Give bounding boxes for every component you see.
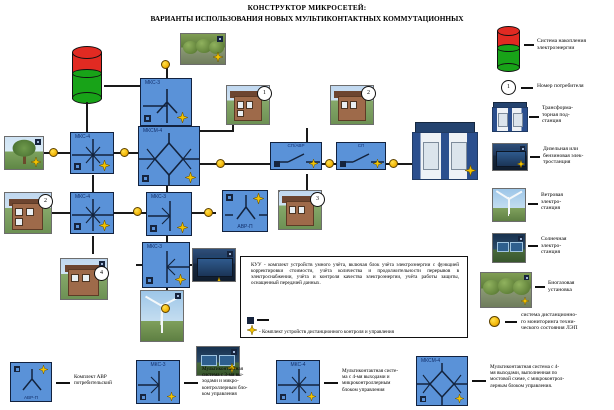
- node-mks4-left-upper[interactable]: МКС-4: [70, 132, 114, 174]
- kuu-description: КУУ - комплект устройств умного учёта, в…: [251, 262, 459, 286]
- remote-control-icon: [247, 325, 257, 335]
- remote-control-icon: [373, 159, 382, 168]
- energy-storage-unit: [72, 46, 102, 104]
- meter-icon: [247, 317, 254, 324]
- wind-turbine-photo: [140, 290, 184, 342]
- wire: [196, 130, 234, 132]
- monitoring-dot: [216, 159, 225, 168]
- monitoring-dot: [49, 148, 58, 157]
- meter-icon: [144, 115, 151, 122]
- transformer-substation: [412, 118, 478, 180]
- hidden: [278, 190, 280, 192]
- solar-tree-photo: [4, 136, 44, 170]
- leader-line: [521, 87, 533, 89]
- monitoring-dot: [389, 159, 398, 168]
- remote-control-icon: [214, 277, 224, 282]
- wire: [92, 236, 94, 254]
- legend-storage-icon: [497, 26, 520, 72]
- meter-icon: [226, 194, 233, 201]
- remote-control-icon: [39, 365, 48, 374]
- remote-control-icon: [99, 220, 110, 231]
- leader-line: [524, 44, 534, 46]
- meter-icon: [74, 163, 81, 170]
- legend-transformer-icon: [492, 100, 528, 132]
- leader-line: [472, 380, 486, 382]
- description-box: КУУ - комплект устройств умного учёта, в…: [240, 256, 468, 338]
- consumer-number-badge: 2: [38, 194, 53, 209]
- bottom-block-avr-p[interactable]: АВР-П: [10, 362, 52, 402]
- leader-line: [529, 116, 539, 118]
- remote-control-icon: [521, 297, 529, 305]
- bottom-caption-mks3: Мультиконтактная система с 3-мя вы- хода…: [202, 366, 274, 397]
- node-mksm4-center[interactable]: МКСМ-4: [138, 126, 200, 186]
- meter-icon: [140, 394, 146, 400]
- meter-icon: [74, 223, 81, 230]
- remote-control-icon: [175, 274, 186, 285]
- bottom-block-mks4[interactable]: МКС-4: [276, 360, 320, 404]
- remote-control-icon: [253, 193, 264, 204]
- consumer-number-badge: 2: [361, 86, 376, 101]
- remote-control-icon: [99, 160, 110, 171]
- remote-control-description: - Комплект устройств дистанционного конт…: [259, 329, 394, 335]
- legend-label-wind: Ветровая электро- станция: [541, 192, 613, 212]
- legend-label-transformer: Трансформа- торная под- станция: [542, 105, 614, 125]
- monitoring-dot: [161, 304, 170, 313]
- remote-control-icon: [177, 112, 188, 123]
- leader-line: [530, 156, 540, 158]
- node-mks4-left-lower[interactable]: МКС-4: [70, 192, 114, 234]
- legend-label-diesel: Дизельная или бензиновая элек- тростанци…: [543, 146, 614, 166]
- node-avr-p[interactable]: АВР-П: [222, 190, 268, 232]
- legend-solar-icon: [492, 233, 526, 263]
- bottom-caption-mksm4: Мультиконтактная система с 4- мя выходам…: [490, 364, 612, 389]
- wire: [104, 85, 142, 87]
- leader-line: [184, 382, 198, 384]
- monitoring-dot: [204, 208, 213, 217]
- legend-label-biogas: Биогазовая установка: [548, 280, 614, 293]
- node-label: АВР-П: [237, 224, 252, 230]
- monitoring-dot: [133, 207, 142, 216]
- consumer-number-badge: 3: [310, 192, 325, 207]
- node-mks3-top[interactable]: МКС-3: [140, 78, 192, 126]
- bottom-block-mks3[interactable]: МКС-3: [136, 360, 180, 404]
- node-mks3-mid[interactable]: МКС-3: [146, 192, 192, 236]
- meter-icon: [142, 175, 149, 182]
- legend-label-monitoring: система дистанционно- го мониторинга тех…: [521, 312, 613, 332]
- remote-control-icon: [185, 172, 196, 183]
- monitoring-dot: [161, 60, 170, 69]
- remote-control-icon: [31, 157, 41, 167]
- legend-monitoring-icon: [489, 316, 500, 327]
- meter-icon: [274, 161, 280, 167]
- leader-line: [505, 321, 517, 323]
- switch-block-sp[interactable]: СП: [336, 142, 386, 170]
- meter-icon: [420, 396, 426, 402]
- remote-control-icon: [167, 392, 176, 401]
- switch-block-sp-avr[interactable]: СП/АВР: [270, 142, 322, 170]
- remote-control-icon: [465, 165, 476, 176]
- legend-consumer-number-icon: 1: [501, 80, 516, 95]
- remote-control-icon: [177, 222, 188, 233]
- remote-control-icon: [309, 159, 318, 168]
- meter-icon: [280, 394, 286, 400]
- leader-line: [257, 319, 269, 321]
- legend-label-solar: Солнечная электро- станция: [541, 236, 613, 256]
- page-subtitle: ВАРИАНТЫ ИСПОЛЬЗОВАНИЯ НОВЫХ МУЛЬТИКОНТА…: [0, 14, 614, 23]
- monitoring-dot: [120, 148, 129, 157]
- bottom-block-mksm4[interactable]: МКСМ-4: [416, 356, 468, 406]
- node-mks3-low[interactable]: МКС-3: [142, 242, 190, 288]
- remote-control-icon: [307, 392, 316, 401]
- wire: [86, 102, 88, 132]
- leader-line: [324, 382, 338, 384]
- legend-diesel-icon: [492, 143, 528, 171]
- consumer-number-badge: 4: [94, 266, 109, 281]
- biogas-plant-photo: [180, 33, 226, 65]
- leader-line: [56, 382, 70, 384]
- block-label: АВР-П: [24, 395, 38, 400]
- diesel-generator-photo: [192, 248, 236, 282]
- leader-line: [535, 286, 545, 288]
- leader-line: [528, 245, 538, 247]
- meter-icon: [146, 277, 153, 284]
- bottom-caption-mks4: Мультиконтактная систе- ма с 4-мя выхода…: [342, 368, 416, 393]
- legend-biogas-icon: [480, 272, 532, 308]
- remote-control-icon: [517, 160, 525, 168]
- consumer-number-badge: 1: [257, 86, 272, 101]
- remote-control-icon: [455, 394, 464, 403]
- leader-line: [528, 203, 538, 205]
- legend-label-consumer-number: Номер потребителя: [537, 83, 613, 90]
- legend-label-storage: Система накопления электроэнергии: [537, 38, 613, 51]
- remote-control-icon: [213, 52, 223, 62]
- monitoring-dot: [325, 159, 334, 168]
- diagram-root: КОНСТРУКТОР МИКРОСЕТЕЙ: ВАРИАНТЫ ИСПОЛЬЗ…: [0, 0, 614, 410]
- page-title: КОНСТРУКТОР МИКРОСЕТЕЙ:: [0, 3, 614, 12]
- meter-icon: [14, 366, 20, 372]
- meter-icon: [340, 161, 346, 167]
- legend-wind-icon: [492, 188, 526, 222]
- meter-icon: [150, 225, 157, 232]
